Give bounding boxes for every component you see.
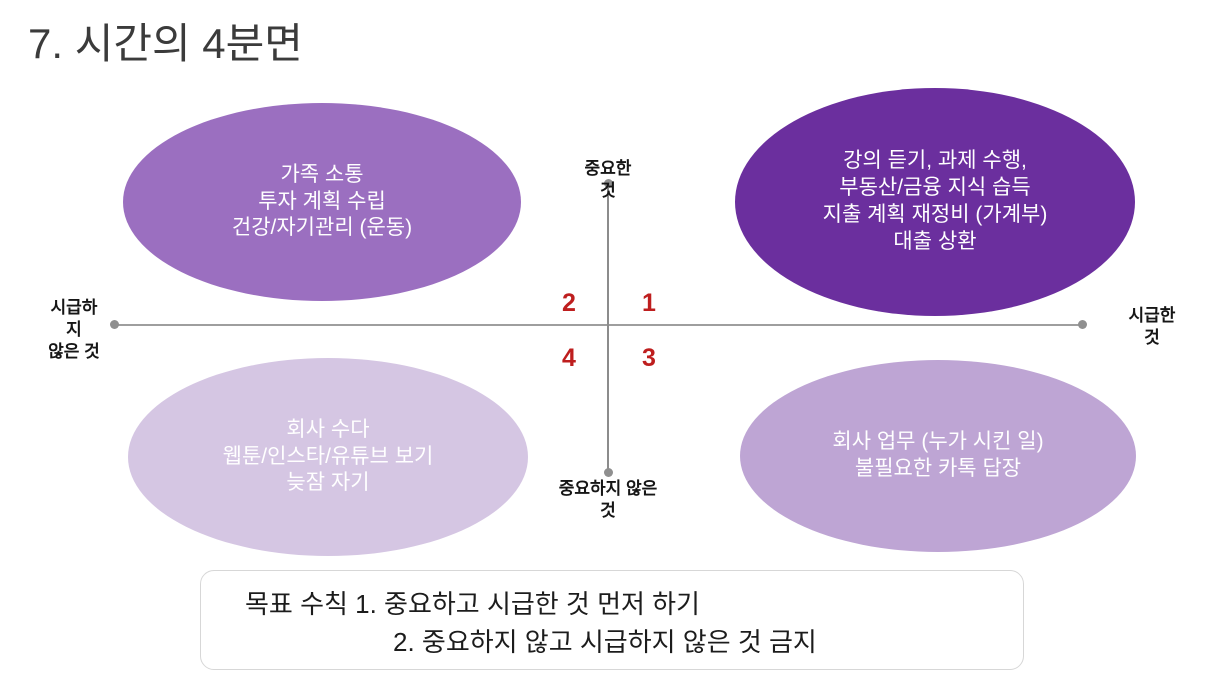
quadrant-1-line: 대출 상환 <box>823 229 1048 256</box>
quadrant-2-line: 가족 소통 <box>232 162 412 189</box>
axis-label-not-important-line: 것 <box>518 500 698 522</box>
quadrant-4-text: 회사 수다 웹툰/인스타/유튜브 보기 늦잠 자기 <box>213 417 444 498</box>
horizontal-axis-line <box>114 324 1082 326</box>
quadrant-3-ellipse: 회사 업무 (누가 시킨 일) 불필요한 카톡 답장 <box>740 360 1136 552</box>
axis-label-urgent-line: 시급한 <box>1102 305 1202 327</box>
axis-label-not-important: 중요하지 않은 것 <box>518 478 698 522</box>
axis-label-urgent: 시급한 것 <box>1102 305 1202 349</box>
axis-label-not-important-line: 중요하지 않은 <box>518 478 698 500</box>
quadrant-2-ellipse: 가족 소통 투자 계획 수립 건강/자기관리 (운동) <box>123 103 521 301</box>
rules-box: 목표 수칙 1. 중요하고 시급한 것 먼저 하기 2. 중요하지 않고 시급하… <box>200 570 1024 670</box>
axis-label-important-line: 것 <box>538 180 678 202</box>
quadrant-2-text: 가족 소통 투자 계획 수립 건강/자기관리 (운동) <box>222 162 422 243</box>
quadrant-1-line: 강의 듣기, 과제 수행, <box>823 148 1048 175</box>
rule-line-1: 목표 수칙 1. 중요하고 시급한 것 먼저 하기 <box>245 585 995 623</box>
axis-label-not-urgent-line: 않은 것 <box>26 341 122 363</box>
quadrant-number-4: 4 <box>554 344 584 373</box>
quadrant-number-2: 2 <box>554 289 584 318</box>
quadrant-4-line: 늦잠 자기 <box>223 470 434 497</box>
slide-canvas: 7. 시간의 4분면 가족 소통 투자 계획 수립 건강/자기관리 (운동) 강… <box>0 0 1216 684</box>
quadrant-1-line: 부동산/금융 지식 습득 <box>823 175 1048 202</box>
axis-label-urgent-line: 것 <box>1102 327 1202 349</box>
quadrant-1-ellipse: 강의 듣기, 과제 수행, 부동산/금융 지식 습득 지출 계획 재정비 (가계… <box>735 88 1135 316</box>
quadrant-2-line: 투자 계획 수립 <box>232 189 412 216</box>
quadrant-3-line: 회사 업무 (누가 시킨 일) <box>832 429 1043 456</box>
quadrant-number-1: 1 <box>634 289 664 318</box>
quadrant-number-3: 3 <box>634 344 664 373</box>
axis-label-not-urgent: 시급하 지 않은 것 <box>26 297 122 363</box>
quadrant-3-line: 불필요한 카톡 답장 <box>832 456 1043 483</box>
quadrant-1-text: 강의 듣기, 과제 수행, 부동산/금융 지식 습득 지출 계획 재정비 (가계… <box>813 148 1058 256</box>
quadrant-4-ellipse: 회사 수다 웹툰/인스타/유튜브 보기 늦잠 자기 <box>128 358 528 556</box>
vertical-axis-line <box>607 182 609 473</box>
page-title: 7. 시간의 4분면 <box>28 10 303 71</box>
axis-label-not-urgent-line: 지 <box>26 319 122 341</box>
axis-label-important-line: 중요한 <box>538 158 678 180</box>
axis-label-not-urgent-line: 시급하 <box>26 297 122 319</box>
quadrant-3-text: 회사 업무 (누가 시킨 일) 불필요한 카톡 답장 <box>822 429 1053 483</box>
axis-endpoint-dot-right-icon <box>1078 320 1087 329</box>
quadrant-1-line: 지출 계획 재정비 (가계부) <box>823 202 1048 229</box>
quadrant-2-line: 건강/자기관리 (운동) <box>232 215 412 242</box>
quadrant-4-line: 회사 수다 <box>223 417 434 444</box>
axis-endpoint-dot-bottom-icon <box>604 468 613 477</box>
quadrant-4-line: 웹툰/인스타/유튜브 보기 <box>223 444 434 471</box>
rule-line-2: 2. 중요하지 않고 시급하지 않은 것 금지 <box>245 623 995 661</box>
axis-label-important: 중요한 것 <box>538 158 678 202</box>
